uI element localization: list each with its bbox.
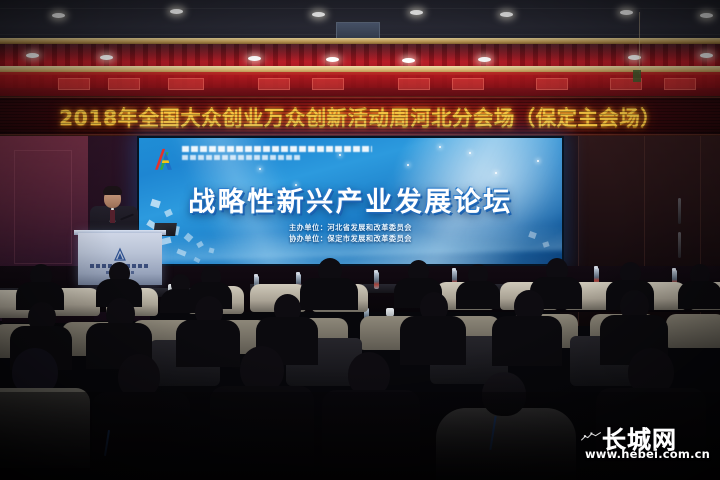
shuangchuang-logo-icon xyxy=(151,145,178,173)
pendant-cable xyxy=(639,12,640,74)
forum-title: 战略性新兴产业发展论坛 xyxy=(139,180,562,219)
door-handle[interactable] xyxy=(678,198,681,224)
organizer-line-1: 主办单位：河北省发展和改革委员会 xyxy=(139,222,562,233)
door-handle[interactable] xyxy=(678,232,681,258)
ceiling xyxy=(0,0,720,96)
watermark-url: www.hebei.com.cn xyxy=(580,447,715,461)
podium-logo-icon xyxy=(112,247,128,262)
screen-logo-wordmark xyxy=(182,146,372,160)
watermark: 长城网 www.hebei.com.cn xyxy=(580,420,715,468)
audience-member xyxy=(492,290,562,364)
organizer-lines: 主办单位：河北省发展和改革委员会 协办单位：保定市发展和改革委员会 xyxy=(139,222,562,244)
led-banner: 2018年全国大众创业万众创新活动周河北分会场（保定主会场） xyxy=(0,96,720,136)
organizer-line-2: 协办单位：保定市发展和改革委员会 xyxy=(139,233,562,244)
ceiling-lower-red-band xyxy=(0,72,720,98)
audience-member xyxy=(678,264,720,308)
exit-sign-icon xyxy=(633,70,641,82)
water-bottle xyxy=(374,272,379,289)
led-screen: 战略性新兴产业发展论坛 主办单位：河北省发展和改革委员会 协办单位：保定市发展和… xyxy=(137,136,564,266)
conference-photo: 2018年全国大众创业万众创新活动周河北分会场（保定主会场） xyxy=(0,0,720,480)
